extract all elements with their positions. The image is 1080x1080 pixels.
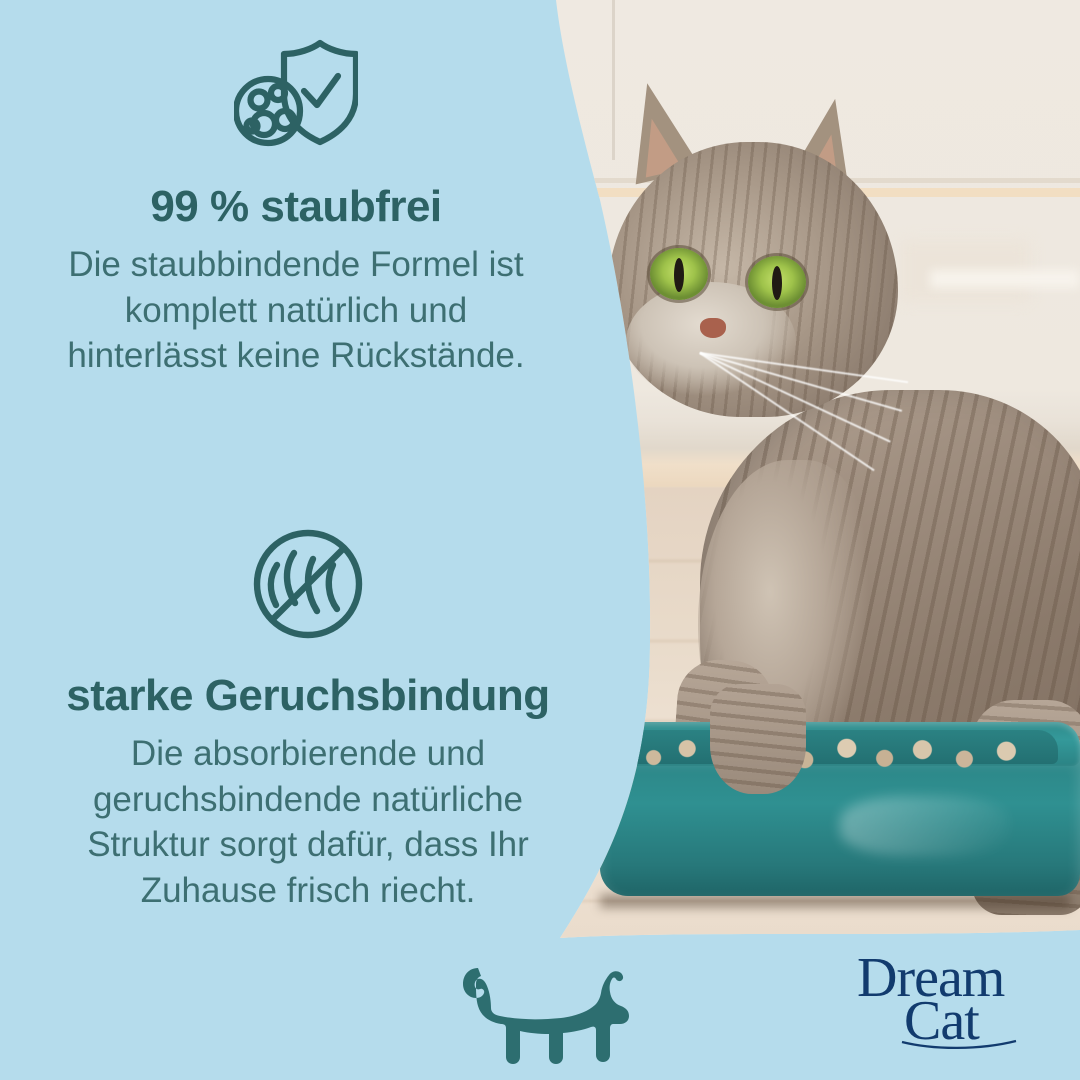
shield-check-dust-icon <box>234 38 358 148</box>
feature-title-dustfree: 99 % staubfrei <box>0 184 592 230</box>
feature-body-odorcontrol: Die absorbierende und geruchsbindende na… <box>28 731 588 913</box>
cat-nose <box>700 318 726 338</box>
cat-eye-left <box>650 248 708 300</box>
no-odor-icon <box>249 525 367 643</box>
feature-block-dustfree: 99 % staubfrei Die staubbindende Formel … <box>0 38 592 379</box>
brand-logo-dreamcat: Dream Cat <box>854 946 1064 1050</box>
cat-litter-pellets <box>620 736 1040 772</box>
feature-body-dustfree: Die staubbindende Formel ist komplett na… <box>61 242 531 379</box>
feature-block-odorcontrol: starke Geruchsbindung Die absorbierende … <box>0 525 616 913</box>
litter-box <box>600 722 1080 922</box>
walking-cat-silhouette-icon <box>445 958 650 1068</box>
brand-logo-line2: Cat <box>904 990 980 1050</box>
cat-paw-in-litter <box>710 684 806 794</box>
litter-box-shadow <box>600 894 1070 908</box>
product-feature-infographic: 99 % staubfrei Die staubbindende Formel … <box>0 0 1080 1080</box>
litter-box-gloss <box>840 796 1010 856</box>
feature-title-odorcontrol: starke Geruchsbindung <box>0 673 616 719</box>
cat-pupil-right <box>772 266 782 300</box>
litter-box-front-panel <box>600 756 1080 896</box>
cat-pupil-left <box>674 258 684 292</box>
cat-eye-right <box>748 256 806 308</box>
